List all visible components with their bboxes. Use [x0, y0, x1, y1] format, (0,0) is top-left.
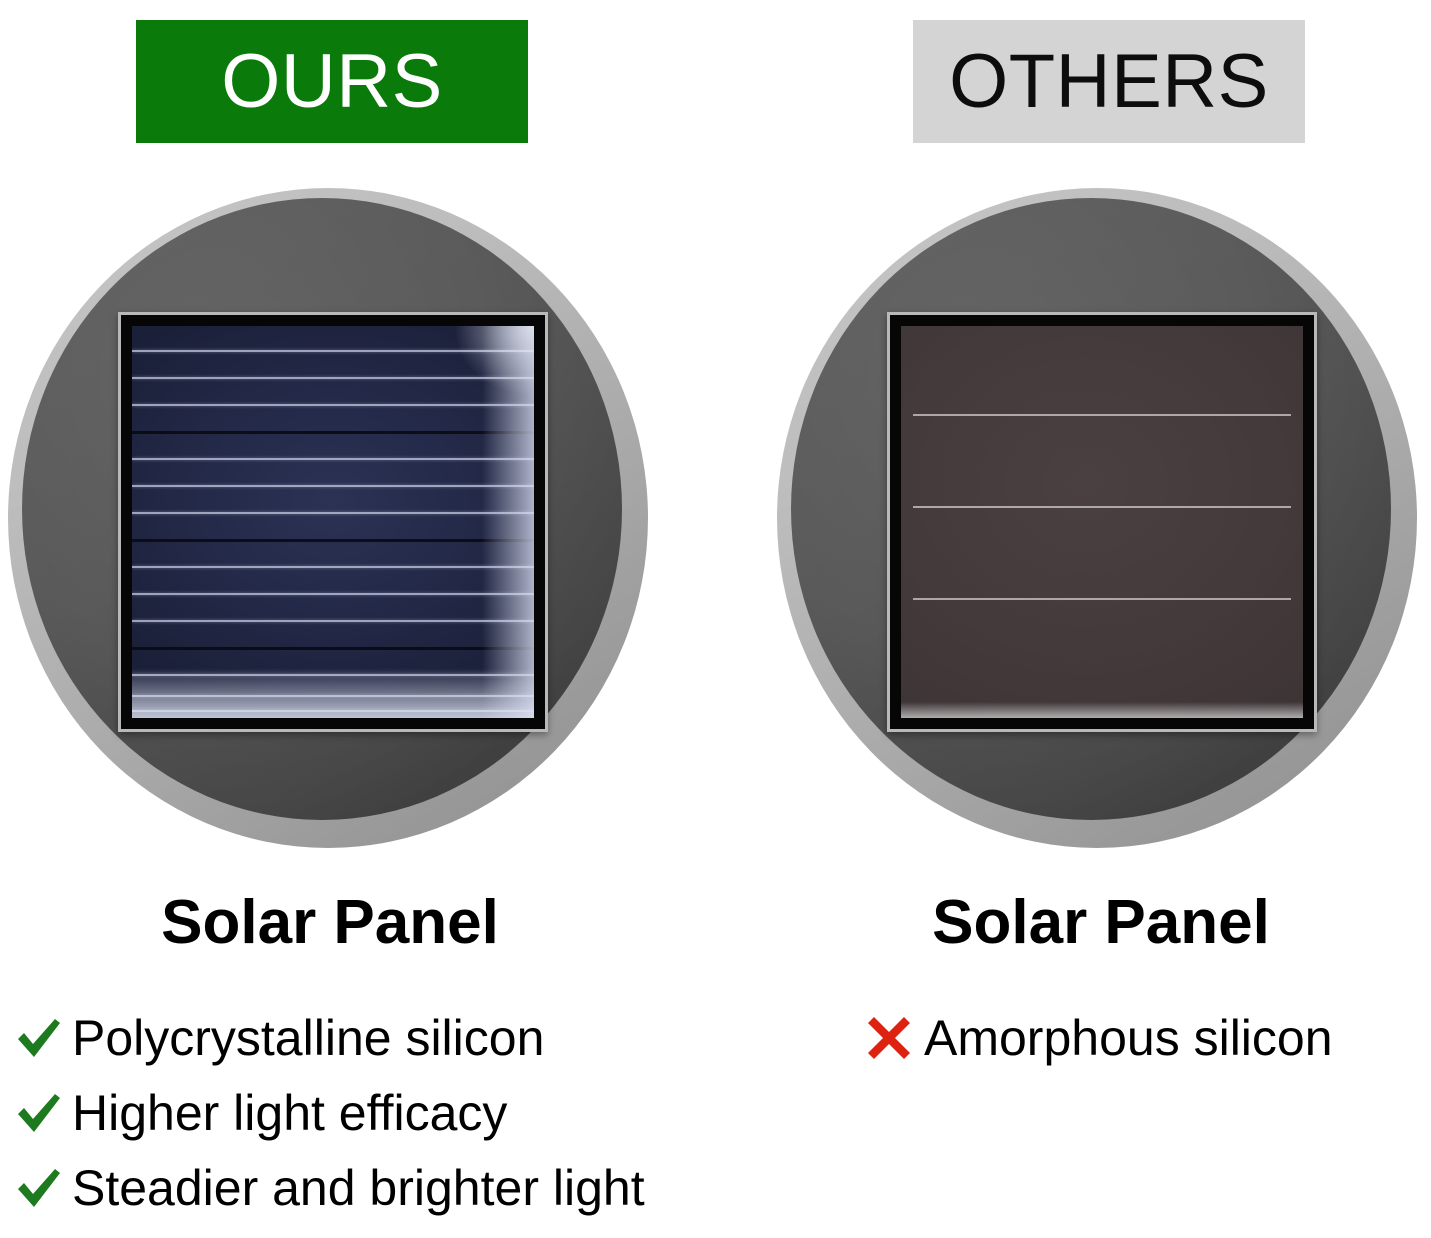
- solar-panel-amorphous: [887, 312, 1317, 732]
- feature-row: Amorphous silicon: [866, 1000, 1333, 1075]
- badge-ours-label: OURS: [221, 44, 443, 120]
- panel-cell-face-blue: [132, 326, 534, 718]
- check-icon: [14, 1013, 72, 1063]
- panel-edge-glow-bottom: [132, 668, 534, 718]
- feature-row: Steadier and brighter light: [14, 1150, 645, 1225]
- panel-title-ours: Solar Panel: [0, 890, 660, 955]
- feature-row: Polycrystalline silicon: [14, 1000, 645, 1075]
- feature-list-others: Amorphous silicon: [866, 1000, 1333, 1075]
- badge-ours: OURS: [136, 20, 528, 143]
- check-icon: [14, 1088, 72, 1138]
- cross-icon: [866, 1015, 924, 1061]
- solar-panel-polycrystalline: [118, 312, 548, 732]
- feature-label: Steadier and brighter light: [72, 1163, 645, 1213]
- panel-edge-glow-right: [482, 326, 534, 718]
- lamp-disc-others: [777, 188, 1417, 848]
- feature-label: Higher light efficacy: [72, 1088, 507, 1138]
- badge-others-label: OTHERS: [949, 44, 1269, 120]
- check-icon: [14, 1163, 72, 1213]
- lamp-disc-ours: [8, 188, 648, 848]
- panel-title-others: Solar Panel: [771, 890, 1431, 955]
- panel-edge-glow-bottom: [901, 702, 1303, 718]
- feature-row: Higher light efficacy: [14, 1075, 645, 1150]
- panel-cell-face-brown: [901, 326, 1303, 718]
- feature-list-ours: Polycrystalline silicon Higher light eff…: [14, 1000, 645, 1225]
- panel-corner-glow: [454, 326, 534, 396]
- feature-label: Amorphous silicon: [924, 1013, 1333, 1063]
- badge-others: OTHERS: [913, 20, 1305, 143]
- feature-label: Polycrystalline silicon: [72, 1013, 544, 1063]
